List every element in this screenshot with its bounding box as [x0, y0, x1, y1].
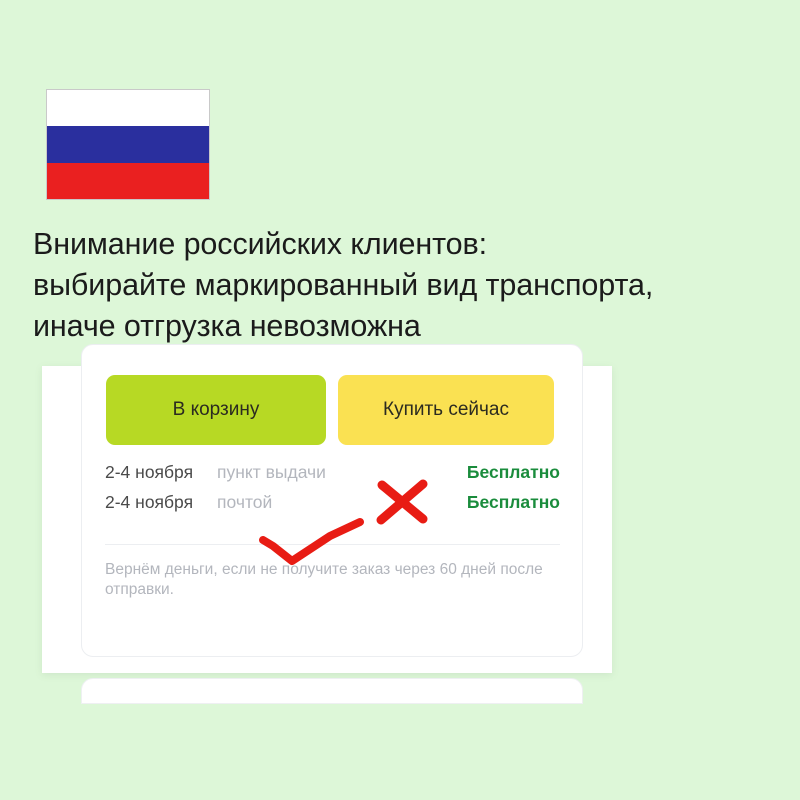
- buy-now-button[interactable]: Купить сейчас: [338, 375, 554, 445]
- next-panel-peek: [81, 678, 583, 704]
- russian-flag: [46, 89, 210, 200]
- delivery-price: Бесплатно: [467, 492, 560, 513]
- delivery-date: 2-4 ноября: [105, 492, 217, 513]
- delivery-method: пункт выдачи: [217, 462, 467, 483]
- headline-line-1: Внимание российских клиентов:: [33, 224, 773, 265]
- delivery-date: 2-4 ноября: [105, 462, 217, 483]
- delivery-row-pickup[interactable]: 2-4 ноября пункт выдачи Бесплатно: [105, 462, 560, 492]
- panel-divider: [105, 544, 560, 545]
- flag-band-red: [47, 163, 209, 199]
- flag-band-white: [47, 90, 209, 126]
- flag-band-blue: [47, 126, 209, 162]
- product-purchase-panel: В корзину Купить сейчас 2-4 ноября пункт…: [81, 344, 583, 657]
- add-to-cart-button[interactable]: В корзину: [106, 375, 326, 445]
- delivery-method: почтой: [217, 492, 467, 513]
- headline-line-2: выбирайте маркированный вид транспорта,: [33, 265, 773, 306]
- headline-line-3: иначе отгрузка невозможна: [33, 306, 773, 347]
- purchase-buttons-row: В корзину Купить сейчас: [106, 375, 554, 445]
- delivery-row-post[interactable]: 2-4 ноября почтой Бесплатно: [105, 492, 560, 522]
- embedded-screenshot: В корзину Купить сейчас 2-4 ноября пункт…: [42, 366, 612, 673]
- refund-fine-print: Вернём деньги, если не получите заказ че…: [105, 560, 567, 599]
- headline-text: Внимание российских клиентов: выбирайте …: [33, 224, 773, 347]
- delivery-price: Бесплатно: [467, 462, 560, 483]
- delivery-options-list: 2-4 ноября пункт выдачи Бесплатно 2-4 но…: [105, 462, 560, 522]
